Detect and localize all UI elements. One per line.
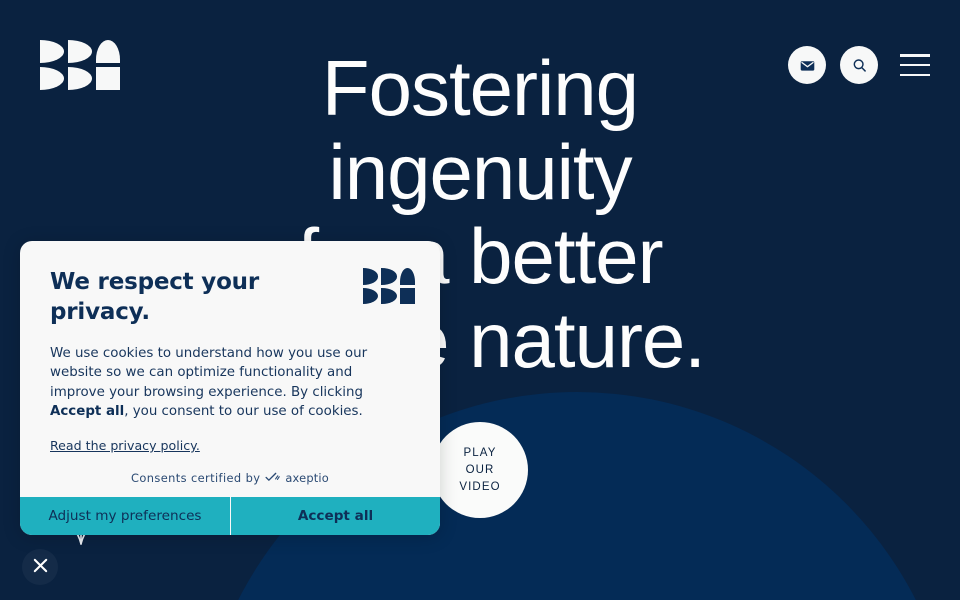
logo-cell-4 — [40, 67, 64, 90]
search-button[interactable] — [840, 46, 878, 84]
page-root: Fostering ingenuity for a better future … — [0, 0, 960, 600]
cookie-dialog-title: We respect your privacy. — [50, 267, 300, 327]
cookie-dialog-actions: Adjust my preferences Accept all — [20, 497, 440, 535]
search-icon — [851, 57, 868, 74]
consent-certification: Consents certified by axeptio — [50, 471, 410, 497]
dialog-logo-cell-1 — [363, 268, 378, 285]
cookie-text-after: , you consent to our use of cookies. — [124, 404, 363, 419]
axeptio-brand-label: axeptio — [285, 471, 329, 485]
header-actions — [788, 46, 930, 84]
mail-icon — [799, 57, 816, 74]
logo-cell-5 — [68, 67, 92, 90]
accept-all-button[interactable]: Accept all — [230, 497, 440, 535]
cookie-dialog-body: We respect your privacy. We use cookies … — [20, 241, 440, 497]
play-video-label-3: VIDEO — [459, 479, 500, 496]
logo-cell-3 — [96, 40, 120, 63]
bba-logo[interactable] — [40, 40, 120, 90]
dialog-logo-cell-4 — [363, 288, 378, 305]
close-icon — [32, 557, 49, 577]
contact-mail-button[interactable] — [788, 46, 826, 84]
logo-cell-1 — [40, 40, 64, 63]
cookie-consent-dialog: We respect your privacy. We use cookies … — [20, 241, 440, 535]
axeptio-check-icon — [265, 471, 280, 485]
burger-line-3 — [900, 74, 930, 77]
cookie-dialog-description: We use cookies to understand how you use… — [50, 344, 410, 421]
privacy-policy-link[interactable]: Read the privacy policy. — [50, 438, 200, 453]
dialog-logo-cell-6 — [400, 288, 415, 305]
site-header — [0, 0, 960, 130]
dialog-logo-cell-5 — [381, 288, 396, 305]
burger-line-2 — [900, 64, 930, 67]
play-video-label-2: OUR — [466, 462, 495, 479]
dialog-bba-logo — [363, 268, 415, 304]
cookie-text-bold: Accept all — [50, 404, 124, 419]
hamburger-menu-icon[interactable] — [900, 54, 930, 76]
logo-cell-2 — [68, 40, 92, 63]
logo-cell-6 — [96, 67, 120, 90]
cookie-text-before: We use cookies to understand how you use… — [50, 346, 367, 400]
adjust-preferences-button[interactable]: Adjust my preferences — [20, 497, 230, 535]
play-video-button[interactable]: PLAY OUR VIDEO — [432, 422, 528, 518]
play-video-label-1: PLAY — [464, 445, 497, 462]
hero-line-2: ingenuity — [328, 128, 631, 216]
certified-prefix-label: Consents certified by — [131, 471, 260, 485]
dialog-logo-cell-3 — [400, 268, 415, 285]
burger-line-1 — [900, 54, 930, 57]
close-button[interactable] — [22, 549, 58, 585]
dialog-logo-cell-2 — [381, 268, 396, 285]
